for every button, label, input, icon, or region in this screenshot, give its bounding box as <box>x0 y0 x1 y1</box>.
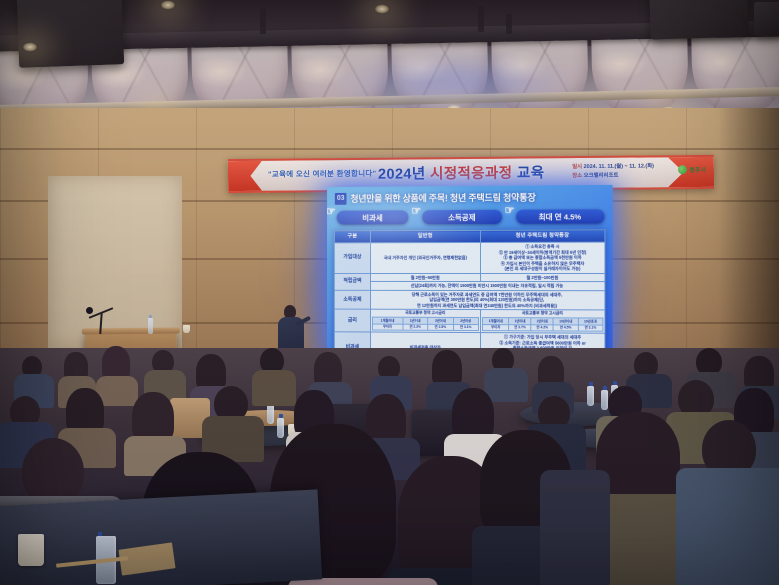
rate-value: 연 2.8% <box>428 324 453 331</box>
ceiling-hanger <box>478 6 484 32</box>
table-row: 가입대상 국내 거주자인 개인 (외국인거주자, 연령제한없음) ① 소득요건 … <box>334 242 605 273</box>
ceiling-spotlight <box>22 42 38 52</box>
foreground-table <box>0 489 322 585</box>
banner-date-key: 일시 <box>572 164 582 170</box>
row-label: 가입대상 <box>334 243 370 273</box>
rate-value: 연 3.1% <box>453 324 478 331</box>
podium-water-bottle <box>148 318 153 334</box>
pointing-hand-icon: ☞ <box>411 204 421 217</box>
rate-value-row: 무이자 연 3.7% 연 4.2% 연 4.5% 연 3.1% <box>482 324 602 331</box>
ceiling-speaker <box>649 0 749 40</box>
table-row: 금리 국토교통부 청약 고시금리 1개월이내 1년이내 2년이내 2년이상 무 <box>334 309 605 333</box>
banner-date-value: 2024. 11. 11.(월) ~ 11. 12.(화) <box>584 163 654 170</box>
slide-pill-max-rate: ☞ 최대 연 4.5% <box>516 209 605 224</box>
rate-value: 연 3.1% <box>578 325 603 332</box>
ceiling-hanger <box>506 14 512 34</box>
rate-value: 연 2.3% <box>403 324 428 331</box>
person-torso <box>252 370 296 406</box>
person-torso <box>676 468 779 585</box>
wall-seam <box>0 148 779 150</box>
water-bottle <box>587 386 594 406</box>
row-label: 적립금액 <box>334 273 370 290</box>
ceiling <box>0 0 779 120</box>
row-label: 금리 <box>334 309 370 332</box>
person-torso <box>484 368 528 402</box>
person-torso <box>540 470 610 585</box>
general-rate-table: 1개월이내 1년이내 2년이내 2년이상 무이자 연 2.3% 연 2.8% 연… <box>372 317 479 331</box>
ceiling-blue-light-spill <box>330 62 580 104</box>
podium-paper-cup <box>183 325 190 333</box>
table-row: 적립금액 월 2만원~50만원 월 2만원~100만원 <box>334 273 605 282</box>
banner-title-suffix: 교육 <box>517 165 545 181</box>
banner-arrow-left-icon <box>228 161 262 191</box>
slide-header: 03 청년만을 위한 상품에 주목! 청년 주택드림 청약통장 <box>335 190 536 204</box>
banner-place-key: 장소 <box>572 173 582 179</box>
row-general: 월 2만원~50만원 <box>371 273 481 282</box>
city-logo-text: 청주시 <box>689 165 706 174</box>
banner-meta-place-row: 장소 오크밸리리조트 <box>572 171 654 181</box>
row-label: 소득공제 <box>334 290 370 309</box>
slide-pill-label: 최대 연 4.5% <box>539 211 582 222</box>
slide-pill-income-deduction: ☞ 소득공제 <box>422 210 501 224</box>
rate-value-row: 무이자 연 2.3% 연 2.8% 연 3.1% <box>372 324 478 331</box>
slide-pill-label: 비과세 <box>362 212 382 223</box>
banner-title: 2024년 시정적응과정 교육 <box>378 161 545 183</box>
banner-title-year: 2024년 <box>378 166 426 182</box>
pointing-hand-icon: ☞ <box>505 204 515 217</box>
conference-hall-photo: "교육에 오신 여러분 환영합니다" 2024년 시정적응과정 교육 일시 20… <box>0 0 779 585</box>
ceiling-speaker <box>17 0 124 68</box>
row-general: 국내 거주자인 개인 (외국인거주자, 연령제한없음) <box>371 242 481 273</box>
slide-comparison-table: 구분 일반형 청년 주택드림 청약통장 가입대상 국내 거주자인 개인 (외국인… <box>334 229 606 363</box>
water-bottle <box>277 418 284 438</box>
projection-slide: 03 청년만을 위한 상품에 주목! 청년 주택드림 청약통장 ☞ 비과세 ☞ … <box>327 185 613 363</box>
rate-value: 연 4.2% <box>531 325 553 332</box>
water-bottle <box>601 390 608 410</box>
row-span: 당해 근로소득이 있는 거주자로 과세연도 중 급여액 7천만원 이하인 무주택… <box>371 290 605 310</box>
table-header-cell: 청년 주택드림 청약통장 <box>480 230 604 243</box>
table-header-cell: 일반형 <box>371 230 481 242</box>
water-bottle <box>267 404 274 424</box>
table-header-row: 구분 일반형 청년 주택드림 청약통장 <box>334 230 605 243</box>
ceiling-spotlight <box>374 4 390 14</box>
paper-cup <box>18 534 44 566</box>
row-youth: ① 소득요건 충족 시 ② 만 19세이상~34세이하(병역기간 최대 6년 인… <box>480 242 604 273</box>
row-span-note: 선납(24회)까지 가능, 잔액이 1500만원 미만시 1500만원 이내는 … <box>371 282 605 291</box>
banner-title-main: 시정적응과정 <box>430 166 513 183</box>
slide-title: 청년만을 위한 상품에 주목! 청년 주택드림 청약통장 <box>350 190 535 204</box>
table-header-cell: 구분 <box>334 231 370 243</box>
slide-section-number: 03 <box>335 192 347 204</box>
ceiling-speaker <box>754 2 779 36</box>
ceiling-panel <box>691 26 779 114</box>
slide-feature-pills: ☞ 비과세 ☞ 소득공제 ☞ 최대 연 4.5% <box>337 209 605 224</box>
microphone-head-icon <box>86 307 93 314</box>
rate-caption: 국토교통부 청약 고시금리 <box>482 311 603 317</box>
banner-meta: 일시 2024. 11. 11.(월) ~ 11. 12.(화) 장소 오크밸리… <box>572 162 654 181</box>
table-row: 소득공제 당해 근로소득이 있는 거주자로 과세연도 중 급여액 7천만원 이하… <box>334 290 605 310</box>
ceiling-hanger <box>260 8 266 34</box>
rate-value: 무이자 <box>482 324 508 331</box>
rate-value: 연 4.5% <box>553 325 578 332</box>
row-youth-rates: 국토교통부 청약 고시금리 1개월이내 1년이내 2년이내 10년이내 10년초… <box>480 310 604 334</box>
banner-place-value: 오크밸리리조트 <box>584 173 619 179</box>
banner-meta-date-row: 일시 2024. 11. 11.(월) ~ 11. 12.(화) <box>572 162 654 172</box>
rate-value: 연 3.7% <box>509 324 531 331</box>
slide-pill-tax-free: ☞ 비과세 <box>337 210 409 224</box>
rate-value: 무이자 <box>372 324 402 331</box>
rate-caption: 국토교통부 청약 고시금리 <box>372 311 479 316</box>
wall-recessed-panel <box>48 176 182 348</box>
row-youth: 월 2만원~100만원 <box>480 273 604 282</box>
pointing-hand-icon: ☞ <box>327 205 336 218</box>
ceiling-spotlight <box>160 0 176 10</box>
ceiling-panel <box>591 28 689 116</box>
city-logo-mark-icon <box>678 165 687 174</box>
banner-welcome-text: "교육에 오신 여러분 환영합니다" <box>268 168 377 180</box>
slide-pill-label: 소득공제 <box>448 211 476 222</box>
row-general-rates: 국토교통부 청약 고시금리 1개월이내 1년이내 2년이내 2년이상 무이자 연… <box>371 309 481 332</box>
youth-rate-table: 1개월이내 1년이내 2년이내 10년이내 10년초과 무이자 연 3.7% 연… <box>482 317 603 332</box>
city-logo: 청주시 <box>678 165 706 174</box>
podium-top <box>82 327 180 334</box>
